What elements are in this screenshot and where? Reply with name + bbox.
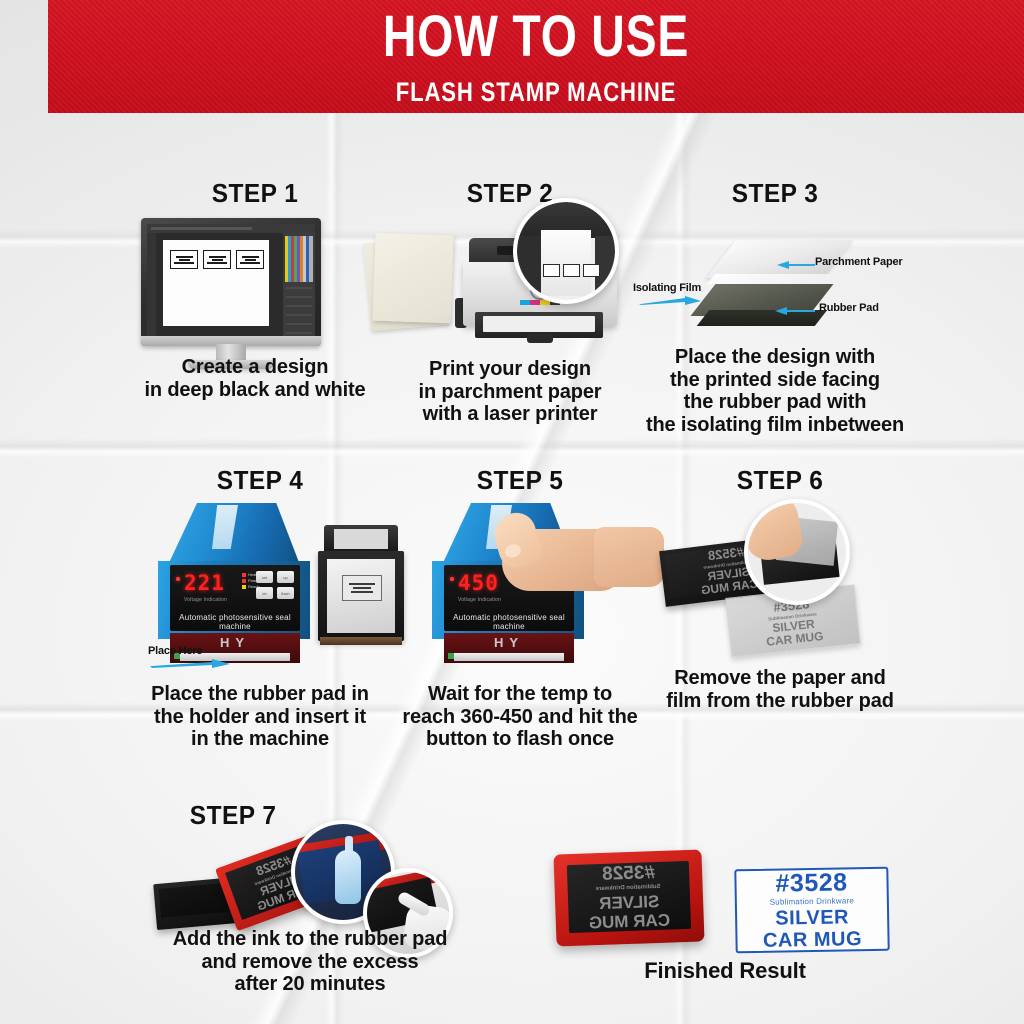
result-stamp-number: #3528 xyxy=(601,863,654,884)
finished-result-illustration: #3528 Sublimation Drinkware SILVER CAR M… xyxy=(555,852,895,952)
step-3-caption: Place the design with the printed side f… xyxy=(625,346,925,436)
step-4-caption-line-3: in the machine xyxy=(110,728,410,751)
step-7-caption: Add the ink to the rubber pad and remove… xyxy=(145,928,475,996)
isolating-film-label: Isolating Film xyxy=(633,282,701,294)
step-7: STEP 7 #3528 Sublimation Drinkware SILVE… xyxy=(145,800,475,1020)
step-2-caption-line-2: in parchment paper xyxy=(375,381,645,404)
step-3-caption-line-3: the rubber pad with xyxy=(625,391,925,414)
step-4-caption-line-1: Place the rubber pad in xyxy=(110,683,410,706)
finished-result-caption: Finished Result xyxy=(555,960,895,983)
parchment-paper-label: Parchment Paper xyxy=(815,256,902,268)
step-6-number: STEP 6 xyxy=(648,465,911,496)
step-6-caption: Remove the paper and film from the rubbe… xyxy=(640,667,920,712)
print-carmug: CAR MUG xyxy=(763,929,862,952)
temperature-display: 221 xyxy=(184,573,225,594)
step-5-caption-line-2: reach 360-450 and hit the xyxy=(390,706,650,729)
step-6-caption-line-1: Remove the paper and xyxy=(640,667,920,690)
header-banner: HOW TO USE FLASH STAMP MACHINE xyxy=(48,0,1024,113)
step-5-number: STEP 5 xyxy=(398,465,642,496)
rubber-pad-label: Rubber Pad xyxy=(819,302,879,314)
machine-base-text-2: HY xyxy=(444,635,574,650)
parchment-paper-icon xyxy=(367,234,453,328)
step-2-caption-line-1: Print your design xyxy=(375,358,645,381)
page-title: HOW TO USE xyxy=(146,6,927,68)
finished-result: #3528 Sublimation Drinkware SILVER CAR M… xyxy=(555,852,895,992)
step-7-caption-line-3: after 20 minutes xyxy=(145,973,475,996)
print-number: #3528 xyxy=(775,869,847,896)
machine-brand-text-2: Automatic photosensitive seal machine xyxy=(444,613,574,631)
step-1-number: STEP 1 xyxy=(114,178,396,209)
infographic-poster: HOW TO USE FLASH STAMP MACHINE STEP 1 xyxy=(0,0,1024,1024)
rubber-pad-arrow-icon xyxy=(775,306,817,314)
place-here-label: Place Here xyxy=(148,645,202,657)
step-2: STEP 2 xyxy=(375,178,645,438)
isolating-film-arrow-icon xyxy=(639,296,701,304)
machine-button-down[interactable]: dn xyxy=(256,587,273,599)
step-1-caption-line-2: in deep black and white xyxy=(105,379,405,402)
step-3-number: STEP 3 xyxy=(634,178,916,209)
result-stamp-silver: SILVER xyxy=(599,893,660,912)
peel-film-illustration: #3528 Sublimation Drinkware SILVER CAR M… xyxy=(640,493,920,663)
print-silver: SILVER xyxy=(775,907,849,929)
layer-stack-icon xyxy=(699,240,849,332)
flash-stamp-machine-icon: 221 Heat Flash Ready Voltage Indication … xyxy=(158,503,310,665)
finished-stamp: #3528 Sublimation Drinkware SILVER CAR M… xyxy=(553,849,704,946)
peel-closeup-inset xyxy=(744,499,850,605)
step-4: STEP 4 221 Heat Flash Ready Voltage Indi… xyxy=(110,465,410,755)
machine-button-set[interactable]: set xyxy=(256,571,273,583)
step-7-caption-line-2: and remove the excess xyxy=(145,951,475,974)
step-3: STEP 3 Parchment Paper Isolating Film Ru… xyxy=(625,178,925,438)
step-6-caption-line-2: film from the rubber pad xyxy=(640,690,920,713)
step-6: STEP 6 #3528 Sublimation Drinkware SILVE… xyxy=(640,465,920,725)
step-3-caption-line-1: Place the design with xyxy=(625,346,925,369)
voltage-indication-label: Voltage Indication xyxy=(184,597,227,603)
step-4-caption-line-2: the holder and insert it xyxy=(110,706,410,729)
result-stamp-carmug: CAR MUG xyxy=(589,912,671,932)
machine-brand-text: Automatic photosensitive seal machine xyxy=(170,613,300,631)
step-2-caption-line-3: with a laser printer xyxy=(375,403,645,426)
parchment-paper-arrow-icon xyxy=(777,260,817,268)
computer-monitor-icon xyxy=(141,218,321,346)
step-5-caption-line-3: button to flash once xyxy=(390,728,650,751)
step-3-caption-line-2: the printed side facing xyxy=(625,369,925,392)
voltage-indication-label-2: Voltage Indication xyxy=(458,597,501,603)
step-4-number: STEP 4 xyxy=(119,465,401,496)
step-5-caption: Wait for the temp to reach 360-450 and h… xyxy=(390,683,650,751)
machine-button-up[interactable]: up xyxy=(277,571,294,583)
finished-result-label: Finished Result xyxy=(555,960,895,983)
step-3-caption-line-4: the isolating film inbetween xyxy=(625,414,925,437)
step-2-caption: Print your design in parchment paper wit… xyxy=(375,358,645,426)
step-5-caption-line-1: Wait for the temp to xyxy=(390,683,650,706)
stamped-impression: #3528 Sublimation Drinkware SILVER CAR M… xyxy=(734,867,889,954)
step-7-caption-line-1: Add the ink to the rubber pad xyxy=(145,928,475,951)
step-4-caption: Place the rubber pad in the holder and i… xyxy=(110,683,410,751)
step-1: STEP 1 xyxy=(105,178,405,428)
step-1-caption: Create a design in deep black and white xyxy=(105,356,405,401)
place-here-arrow-icon xyxy=(150,659,230,667)
step-1-caption-line-1: Create a design xyxy=(105,356,405,379)
temperature-display-450: 450 xyxy=(458,573,499,594)
machine-button-group[interactable]: set up dn flash xyxy=(256,571,294,599)
machine-button-flash[interactable]: flash xyxy=(277,587,294,599)
printer-magnifier-inset xyxy=(513,198,619,304)
page-subtitle: FLASH STAMP MACHINE xyxy=(136,78,936,106)
step-5: STEP 5 450 Voltage Indication Automatic … xyxy=(390,465,650,755)
